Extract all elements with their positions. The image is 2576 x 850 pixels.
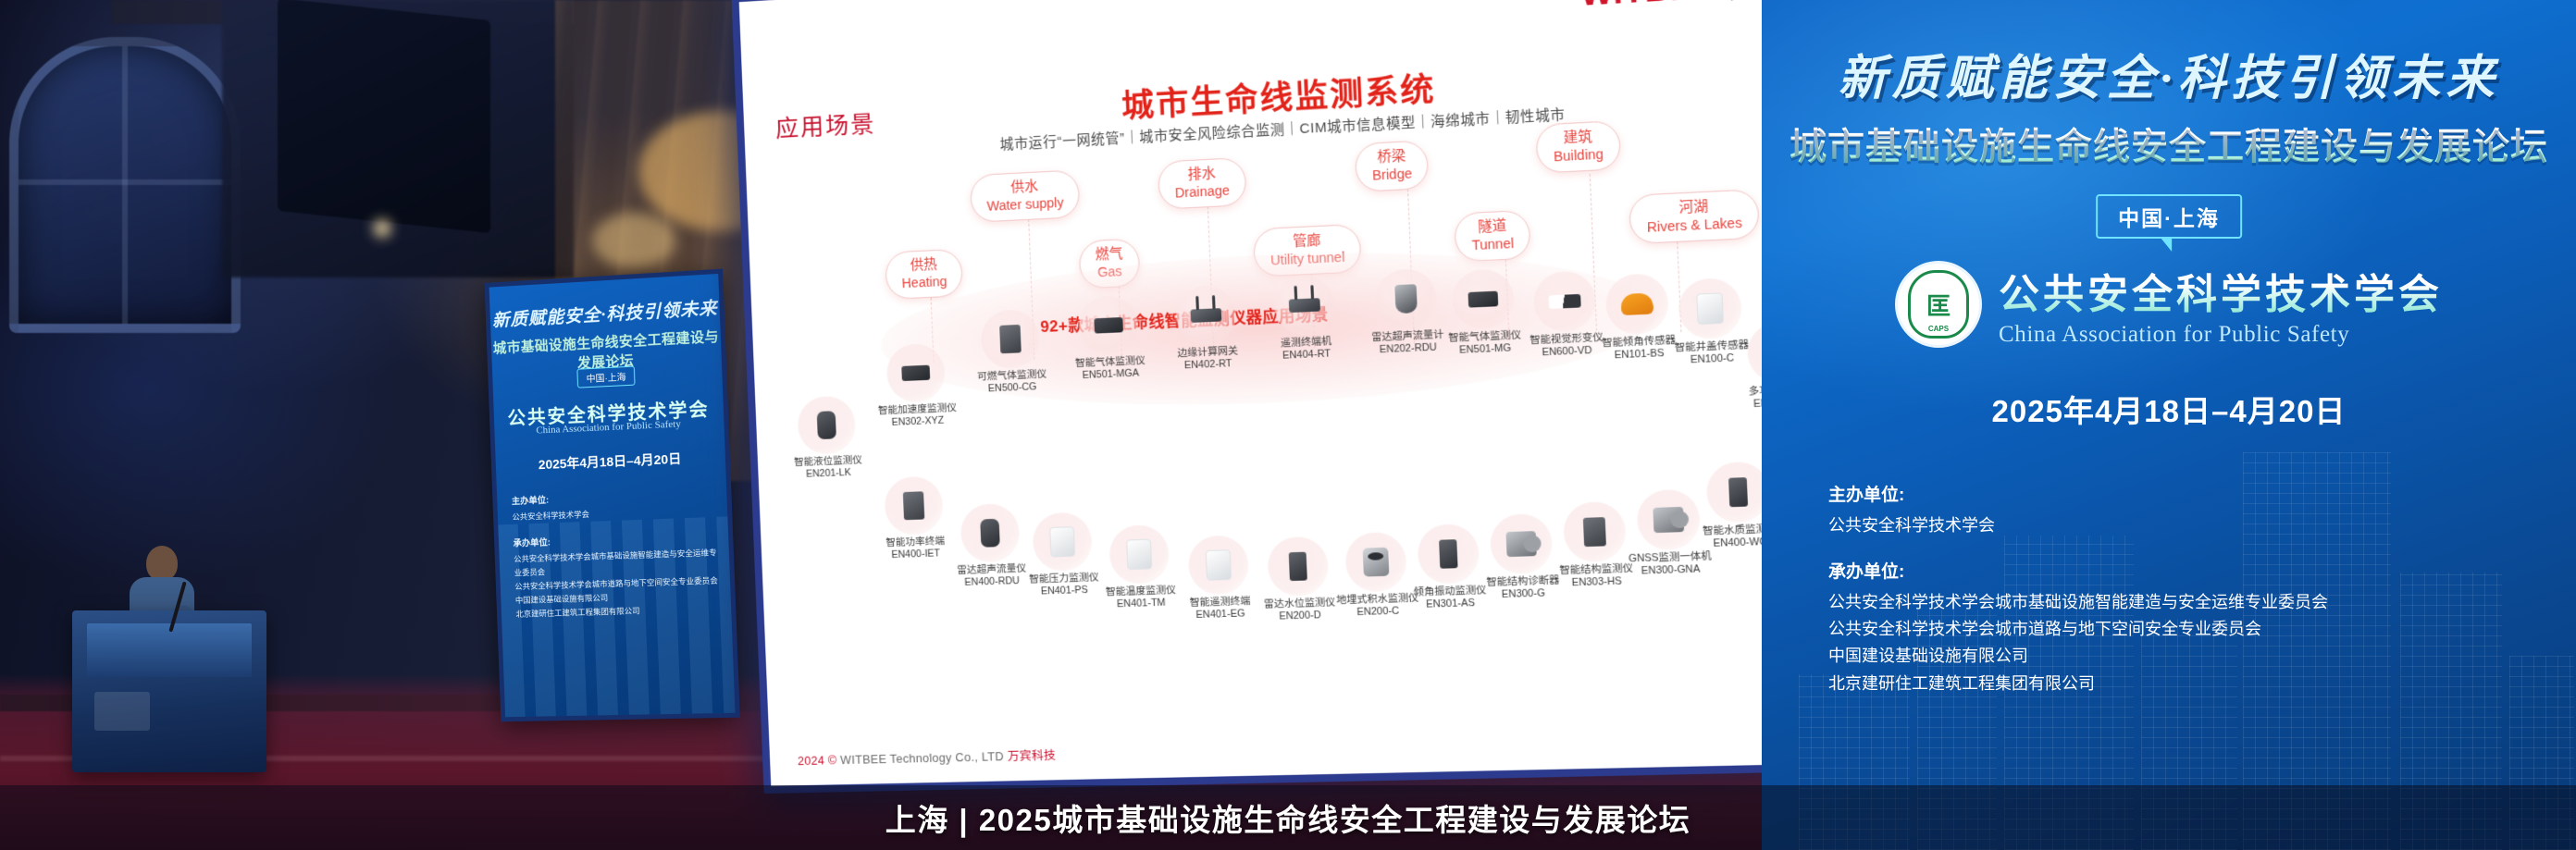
device-node[interactable]: 智能气体监测仪 EN501-MGA xyxy=(1056,294,1162,383)
banner-headline: 新质赋能安全·科技引领未来 xyxy=(1762,39,2576,108)
organizer-item: 公共安全科学技术学会城市道路与地下空间安全专业委员会 xyxy=(1828,616,2328,643)
screenshot-root: 新质赋能安全·科技引领未来 城市基础设施生命线安全工程建设与发展论坛 中国·上海… xyxy=(0,0,2576,850)
category-pill-building[interactable]: 建筑 Building xyxy=(1535,120,1621,174)
mini-location-chip: 中国·上海 xyxy=(576,366,636,388)
device-icon-edge-gateway xyxy=(1175,285,1237,346)
mini-organizer-item: 中国建设基础设施有限公司 xyxy=(515,593,609,605)
banner-subline: 城市基础设施生命线安全工程建设与发展论坛 xyxy=(1762,117,2576,170)
category-label-en: Heating xyxy=(901,273,947,290)
category-label-en: Tunnel xyxy=(1471,235,1514,253)
category-label-cn: 供热 xyxy=(901,257,947,276)
arched-window xyxy=(9,37,241,333)
category-pill-heating[interactable]: 供热 Heating xyxy=(885,249,963,300)
organizer-item: 中国建设基础设施有限公司 xyxy=(1828,643,2328,670)
device-icon-pressure-monitor xyxy=(1032,511,1093,572)
device-icon-combustible-gas xyxy=(980,309,1041,370)
location-chip: 中国·上海 xyxy=(2096,194,2242,239)
presenter-head xyxy=(146,546,178,581)
mini-organizers: 主办单位: 公共安全科学技术学会 承办单位: 公共安全科学技术学会城市基础设施智… xyxy=(512,487,723,621)
organizer-item: 公共安全科学技术学会城市基础设施智能建造与安全运维专业委员会 xyxy=(1828,589,2328,616)
presentation-slide: WITBEE 万宾 应用场景 城市生命线监测系统 城市运行“一网统管”｜城市安全… xyxy=(739,0,1871,786)
device-icon-temperature-monitor xyxy=(1108,524,1170,585)
caps-seal-icon: 匡 CAPS xyxy=(1895,261,1982,348)
category-label-en: Water supply xyxy=(986,194,1064,214)
secondary-led-banner: 新质赋能安全·科技引领未来 城市基础设施生命线安全工程建设与发展论坛 中国·上海… xyxy=(485,269,740,722)
device-icon-radar-water-level xyxy=(1267,536,1330,597)
mini-organizer-item: 公共安全科学技术学会城市道路与地下空间安全专业委员会 xyxy=(514,575,718,591)
mini-host-item: 公共安全科学技术学会 xyxy=(512,510,589,522)
spacer xyxy=(1828,539,2328,558)
category-label-en: Rivers & Lakes xyxy=(1647,215,1743,236)
category-pill-rivers-lakes[interactable]: 河湖 Rivers & Lakes xyxy=(1629,189,1760,244)
category-pill-drainage[interactable]: 排水 Drainage xyxy=(1158,157,1247,210)
main-led-screen: WITBEE 万宾 应用场景 城市生命线监测系统 城市运行“一网统管”｜城市安全… xyxy=(731,0,1878,794)
device-icon-smart-gas-monitor xyxy=(1451,268,1515,330)
category-label-en: Drainage xyxy=(1175,182,1231,201)
caption-text: 上海 | 2025城市基础设施生命线安全工程建设与发展论坛 xyxy=(885,795,1690,840)
device-node[interactable]: 智能液位监测仪 EN201-LK xyxy=(775,394,879,481)
device-icon-accelerometer xyxy=(885,343,946,403)
device-icon-power-terminal xyxy=(884,475,944,536)
mini-organizer-label: 承办单位: xyxy=(513,538,551,549)
category-label-cn: 桥梁 xyxy=(1371,148,1412,166)
mini-host-label: 主办单位: xyxy=(512,496,550,507)
category-label-en: Bridge xyxy=(1372,166,1413,184)
category-label-cn: 隧道 xyxy=(1471,218,1514,238)
slide-footer: 2024 © WITBEE Technology Co., LTD 万宾科技 xyxy=(798,745,1057,769)
witbee-wordmark: WITBEE xyxy=(1579,0,1717,14)
caption-bar: 上海 | 2025城市基础设施生命线安全工程建设与发展论坛 xyxy=(0,785,2576,850)
device-node[interactable]: 遥测终端机 EN404-RT xyxy=(1251,274,1359,363)
mini-headline: 新质赋能安全·科技引领未来 xyxy=(489,294,720,332)
device-icon-telemetry-terminal xyxy=(1273,275,1336,337)
caps-seal-abbr: CAPS xyxy=(1898,325,1979,333)
organizer-block: 主办单位: 公共安全科学技术学会 承办单位: 公共安全科学技术学会城市基础设施智… xyxy=(1828,481,2328,697)
host-item: 公共安全科学技术学会 xyxy=(1828,512,2328,539)
host-label: 主办单位: xyxy=(1828,481,2328,506)
device-node[interactable]: 边缘计算网关 EN402-RT xyxy=(1153,284,1260,373)
podium-logo xyxy=(94,692,150,731)
caps-name-cn: 公共安全科学技术学会 xyxy=(1999,261,2443,320)
caps-wordmark: 公共安全科学技术学会 China Association for Public … xyxy=(1999,261,2443,348)
mini-date: 2025年4月18日–4月20日 xyxy=(496,448,726,475)
footer-company-en: WITBEE Technology Co., LTD xyxy=(840,750,1004,767)
speaker-array xyxy=(278,0,490,233)
category-label-cn: 燃气 xyxy=(1095,246,1123,264)
category-pill-tunnel[interactable]: 隧道 Tunnel xyxy=(1454,210,1531,263)
category-pill-water-supply[interactable]: 供水 Water supply xyxy=(970,169,1081,222)
podium xyxy=(72,610,266,772)
device-icon-smart-gas xyxy=(1078,295,1139,356)
stage-spotlight xyxy=(374,220,390,237)
caps-name-en: China Association for Public Safety xyxy=(1999,322,2443,348)
device-node[interactable]: 可燃气体监测仪 EN500-CG xyxy=(959,308,1064,396)
stage-spotlight xyxy=(592,213,675,268)
footer-company-cn: 万宾科技 xyxy=(1007,749,1056,763)
category-label-en: Building xyxy=(1554,146,1604,166)
category-pill-bridge[interactable]: 桥梁 Bridge xyxy=(1355,140,1430,191)
device-node[interactable]: 智能加速度监测仪 EN302-XYZ xyxy=(864,342,969,429)
caps-logo-row: 匡 CAPS 公共安全科学技术学会 China Association for … xyxy=(1762,261,2576,348)
event-date: 2025年4月18日–4月20日 xyxy=(1762,387,2576,431)
device-icon-level-meter xyxy=(797,395,857,455)
mini-organizer-item: 北京建研住工建筑工程集团有限公司 xyxy=(515,606,639,619)
organizer-label: 承办单位: xyxy=(1828,558,2328,583)
organizer-item: 北京建研住工建筑工程集团有限公司 xyxy=(1828,671,2328,697)
footer-year: 2024 © xyxy=(798,754,837,768)
event-banner: 新质赋能安全·科技引领未来 城市基础设施生命线安全工程建设与发展论坛 中国·上海… xyxy=(1762,0,2576,850)
device-icon-telemetry-unit xyxy=(1187,535,1249,596)
mini-organizer-item: 公共安全科学技术学会城市基础设施智能建造与安全运维专业委员会 xyxy=(514,548,717,577)
witbee-logo: WITBEE 万宾 xyxy=(1579,0,1790,14)
